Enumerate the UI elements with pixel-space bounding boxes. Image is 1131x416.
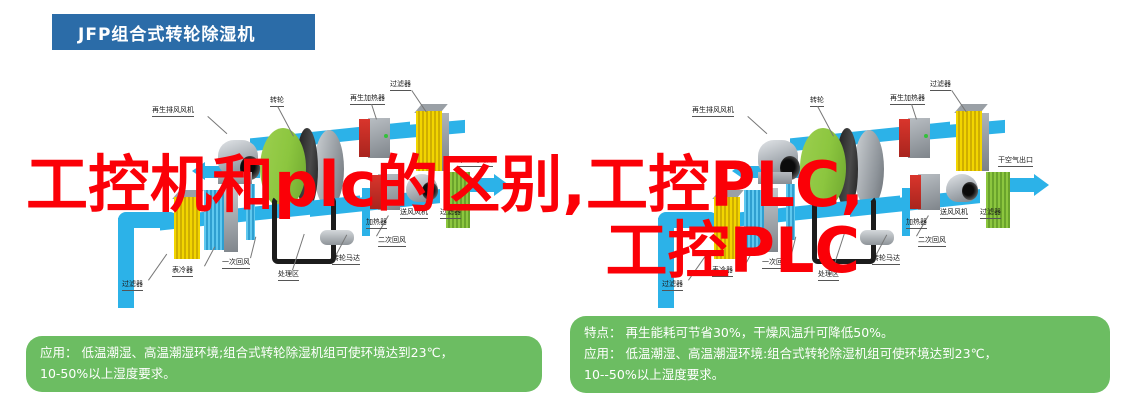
caption-right-line-1: 特点： 再生能耗可节省30%，干燥风温升可降低50%。 [584, 322, 1096, 343]
surface-cooler-coil [204, 190, 224, 250]
upper-filter [416, 111, 442, 171]
primary-return-coil [786, 184, 795, 240]
surface-cooler-plate [224, 188, 238, 252]
process-filter [446, 172, 470, 228]
label-dry-air-outlet: 干空气出口 [458, 156, 493, 167]
process-heater-body [378, 174, 400, 210]
machine-diagram-right: 再生排风风机 转轮 再生加热器 过滤器 干空气出口 过滤器 表冷器 一次回风 处… [640, 78, 1120, 328]
label-process-zone: 处理区 [278, 270, 299, 281]
label-process-zone: 处理区 [818, 270, 839, 281]
secondary-return-duct [362, 188, 370, 236]
poster-canvas: JFP组合式转轮除湿机 [0, 0, 1131, 416]
surface-cooler-plate [764, 188, 778, 252]
regen-heater-element [359, 119, 370, 157]
process-heater-body [918, 174, 940, 210]
caption-right-line-3: 10--50%以上湿度要求。 [584, 364, 1096, 385]
upper-filter [956, 111, 982, 171]
supply-fan-inlet [422, 182, 438, 200]
process-heater-element [370, 175, 381, 209]
rotor-motor [320, 230, 354, 245]
caption-panel-right: 特点： 再生能耗可节省30%，干燥风温升可降低50%。 应用： 低温潮湿、高温潮… [570, 316, 1110, 393]
leader-regen-exhaust-fan [207, 116, 227, 134]
lower-filter [174, 197, 200, 259]
regen-exhaust-fan-base [218, 172, 252, 184]
regen-heater-indicator [384, 134, 388, 138]
regen-heater-body [368, 118, 390, 158]
intake-elbow [118, 212, 178, 228]
regen-heater-element [899, 119, 910, 157]
label-primary-return-air: 一次回风 [762, 258, 790, 269]
title-banner: JFP组合式转轮除湿机 [52, 14, 315, 50]
label-supply-fan: 送风风机 [940, 208, 968, 219]
label-dry-air-outlet: 干空气出口 [998, 156, 1033, 167]
caption-left-line-2: 10-50%以上湿度要求。 [40, 363, 528, 384]
caption-panel-left: 应用： 低温潮湿、高温潮湿环境;组合式转轮除湿机组可使环境达到23℃， 10-5… [26, 336, 542, 392]
label-lower-filter: 过滤器 [122, 280, 143, 291]
upper-filter-side [442, 113, 449, 171]
upper-filter-side [982, 113, 989, 171]
process-heater-element [910, 175, 921, 209]
lower-filter [714, 197, 740, 259]
label-heater: 加热器 [906, 218, 927, 229]
label-rotor-motor: 转轮马达 [872, 254, 900, 265]
label-upper-filter: 过滤器 [930, 80, 951, 91]
regen-heater-body [908, 118, 930, 158]
label-upper-filter: 过滤器 [390, 80, 411, 91]
supply-fan-inlet [962, 182, 978, 200]
caption-right-line-2: 应用： 低温潮湿、高温潮湿环境:组合式转轮除湿机组可使环境达到23℃， [584, 343, 1096, 364]
label-heater: 加热器 [366, 218, 387, 229]
label-lower-right-filter: 过滤器 [440, 208, 461, 219]
secondary-return-duct [902, 188, 910, 236]
machine-diagram-left: 再生排风风机 转轮 再生加热器 过滤器 干空气出口 过滤器 表冷器 一次回风 处… [100, 78, 580, 328]
label-regen-exhaust-fan: 再生排风风机 [692, 106, 734, 117]
label-surface-cooler: 表冷器 [712, 266, 733, 277]
caption-left-line-1: 应用： 低温潮湿、高温潮湿环境;组合式转轮除湿机组可使环境达到23℃， [40, 342, 528, 363]
label-rotor: 转轮 [810, 96, 824, 107]
label-primary-return-air: 一次回风 [222, 258, 250, 269]
regen-exhaust-fan-base [758, 172, 792, 184]
label-secondary-return-air: 二次回风 [918, 236, 946, 247]
leader-regen-exhaust-fan [747, 116, 767, 134]
label-rotor-motor: 转轮马达 [332, 254, 360, 265]
leader-lower-filter [148, 254, 167, 281]
label-lower-right-filter: 过滤器 [980, 208, 1001, 219]
rotor-motor [860, 230, 894, 245]
label-secondary-return-air: 二次回风 [378, 236, 406, 247]
label-regen-exhaust-fan: 再生排风风机 [152, 106, 194, 117]
label-supply-fan: 送风风机 [400, 208, 428, 219]
regen-heater-indicator [924, 134, 928, 138]
label-regen-heater: 再生加热器 [350, 94, 385, 105]
label-lower-filter: 过滤器 [662, 280, 683, 291]
process-filter [986, 172, 1010, 228]
primary-return-coil [246, 184, 255, 240]
banner-title: JFP组合式转轮除湿机 [52, 20, 255, 45]
leader-lower-filter [688, 254, 707, 281]
intake-elbow [658, 212, 718, 228]
surface-cooler-coil [744, 190, 764, 250]
label-surface-cooler: 表冷器 [172, 266, 193, 277]
intake-riser [658, 218, 674, 308]
intake-riser [118, 218, 134, 308]
label-rotor: 转轮 [270, 96, 284, 107]
label-regen-heater: 再生加热器 [890, 94, 925, 105]
